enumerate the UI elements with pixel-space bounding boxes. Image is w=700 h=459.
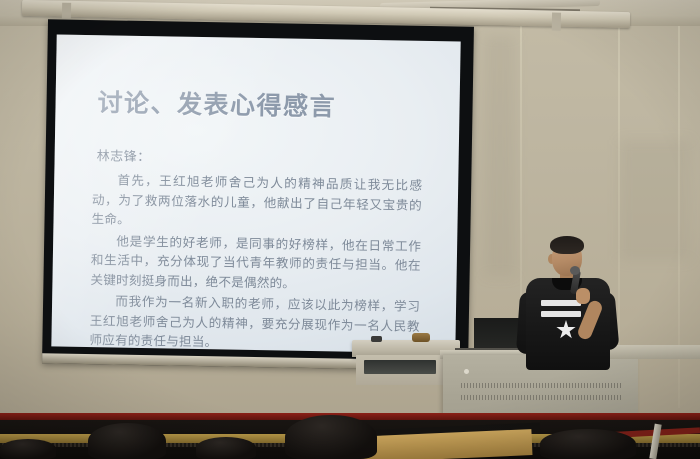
audience-head [88, 423, 166, 459]
cabinet-vent [461, 383, 621, 388]
wall-stain [485, 36, 515, 276]
roller-bracket [552, 13, 561, 31]
slide-paragraph: 首先，王红旭老师舍己为人的精神品质让我无比感动，为了救两位落水的儿童，他献出了自… [91, 171, 422, 235]
audience-head [285, 415, 377, 459]
roller-bracket [62, 3, 71, 21]
shirt-graphic-bar [541, 300, 581, 306]
presentation-photo-scene: 讨论、发表心得感言 林志锋： 首先，王红旭老师舍己为人的精神品质让我无比感动，为… [0, 0, 700, 459]
presenter-hair [550, 236, 584, 254]
slide-author: 林志锋： [97, 145, 151, 165]
slide: 讨论、发表心得感言 林志锋： 首先，王红旭老师舍己为人的精神品质让我无比感动，为… [51, 34, 460, 353]
audience-head [540, 429, 636, 459]
shirt-graphic-bar [541, 311, 581, 317]
wall-stain [620, 140, 690, 260]
projection-screen-surface: 讨论、发表心得感言 林志锋： 首先，王红旭老师舍己为人的精神品质让我无比感动，为… [51, 34, 460, 353]
audience-head [196, 437, 256, 459]
slide-body: 首先，王红旭老师舍己为人的精神品质让我无比感动，为了救两位落水的儿童，他献出了自… [89, 171, 422, 353]
lectern-shelf-slot [364, 360, 436, 374]
presenter-torso [526, 278, 610, 370]
cabinet-vent [461, 395, 621, 400]
slide-title: 讨论、发表心得感言 [97, 83, 336, 123]
microphone-head-icon [570, 266, 580, 275]
presenter-hand [576, 288, 590, 304]
slide-paragraph: 他是学生的好老师，是同事的好榜样，他在日常工作和生活中，充分体现了当代青年教师的… [90, 232, 421, 296]
cabinet-knob [464, 369, 469, 374]
side-desk [610, 345, 700, 359]
lectern-object-pouch [412, 333, 430, 342]
projection-screen-frame: 讨论、发表心得感言 林志锋： 首先，王红旭老师舍己为人的精神品质让我无比感动，为… [42, 19, 474, 370]
audience-head [0, 439, 56, 459]
lectern-object-remote [371, 336, 382, 342]
